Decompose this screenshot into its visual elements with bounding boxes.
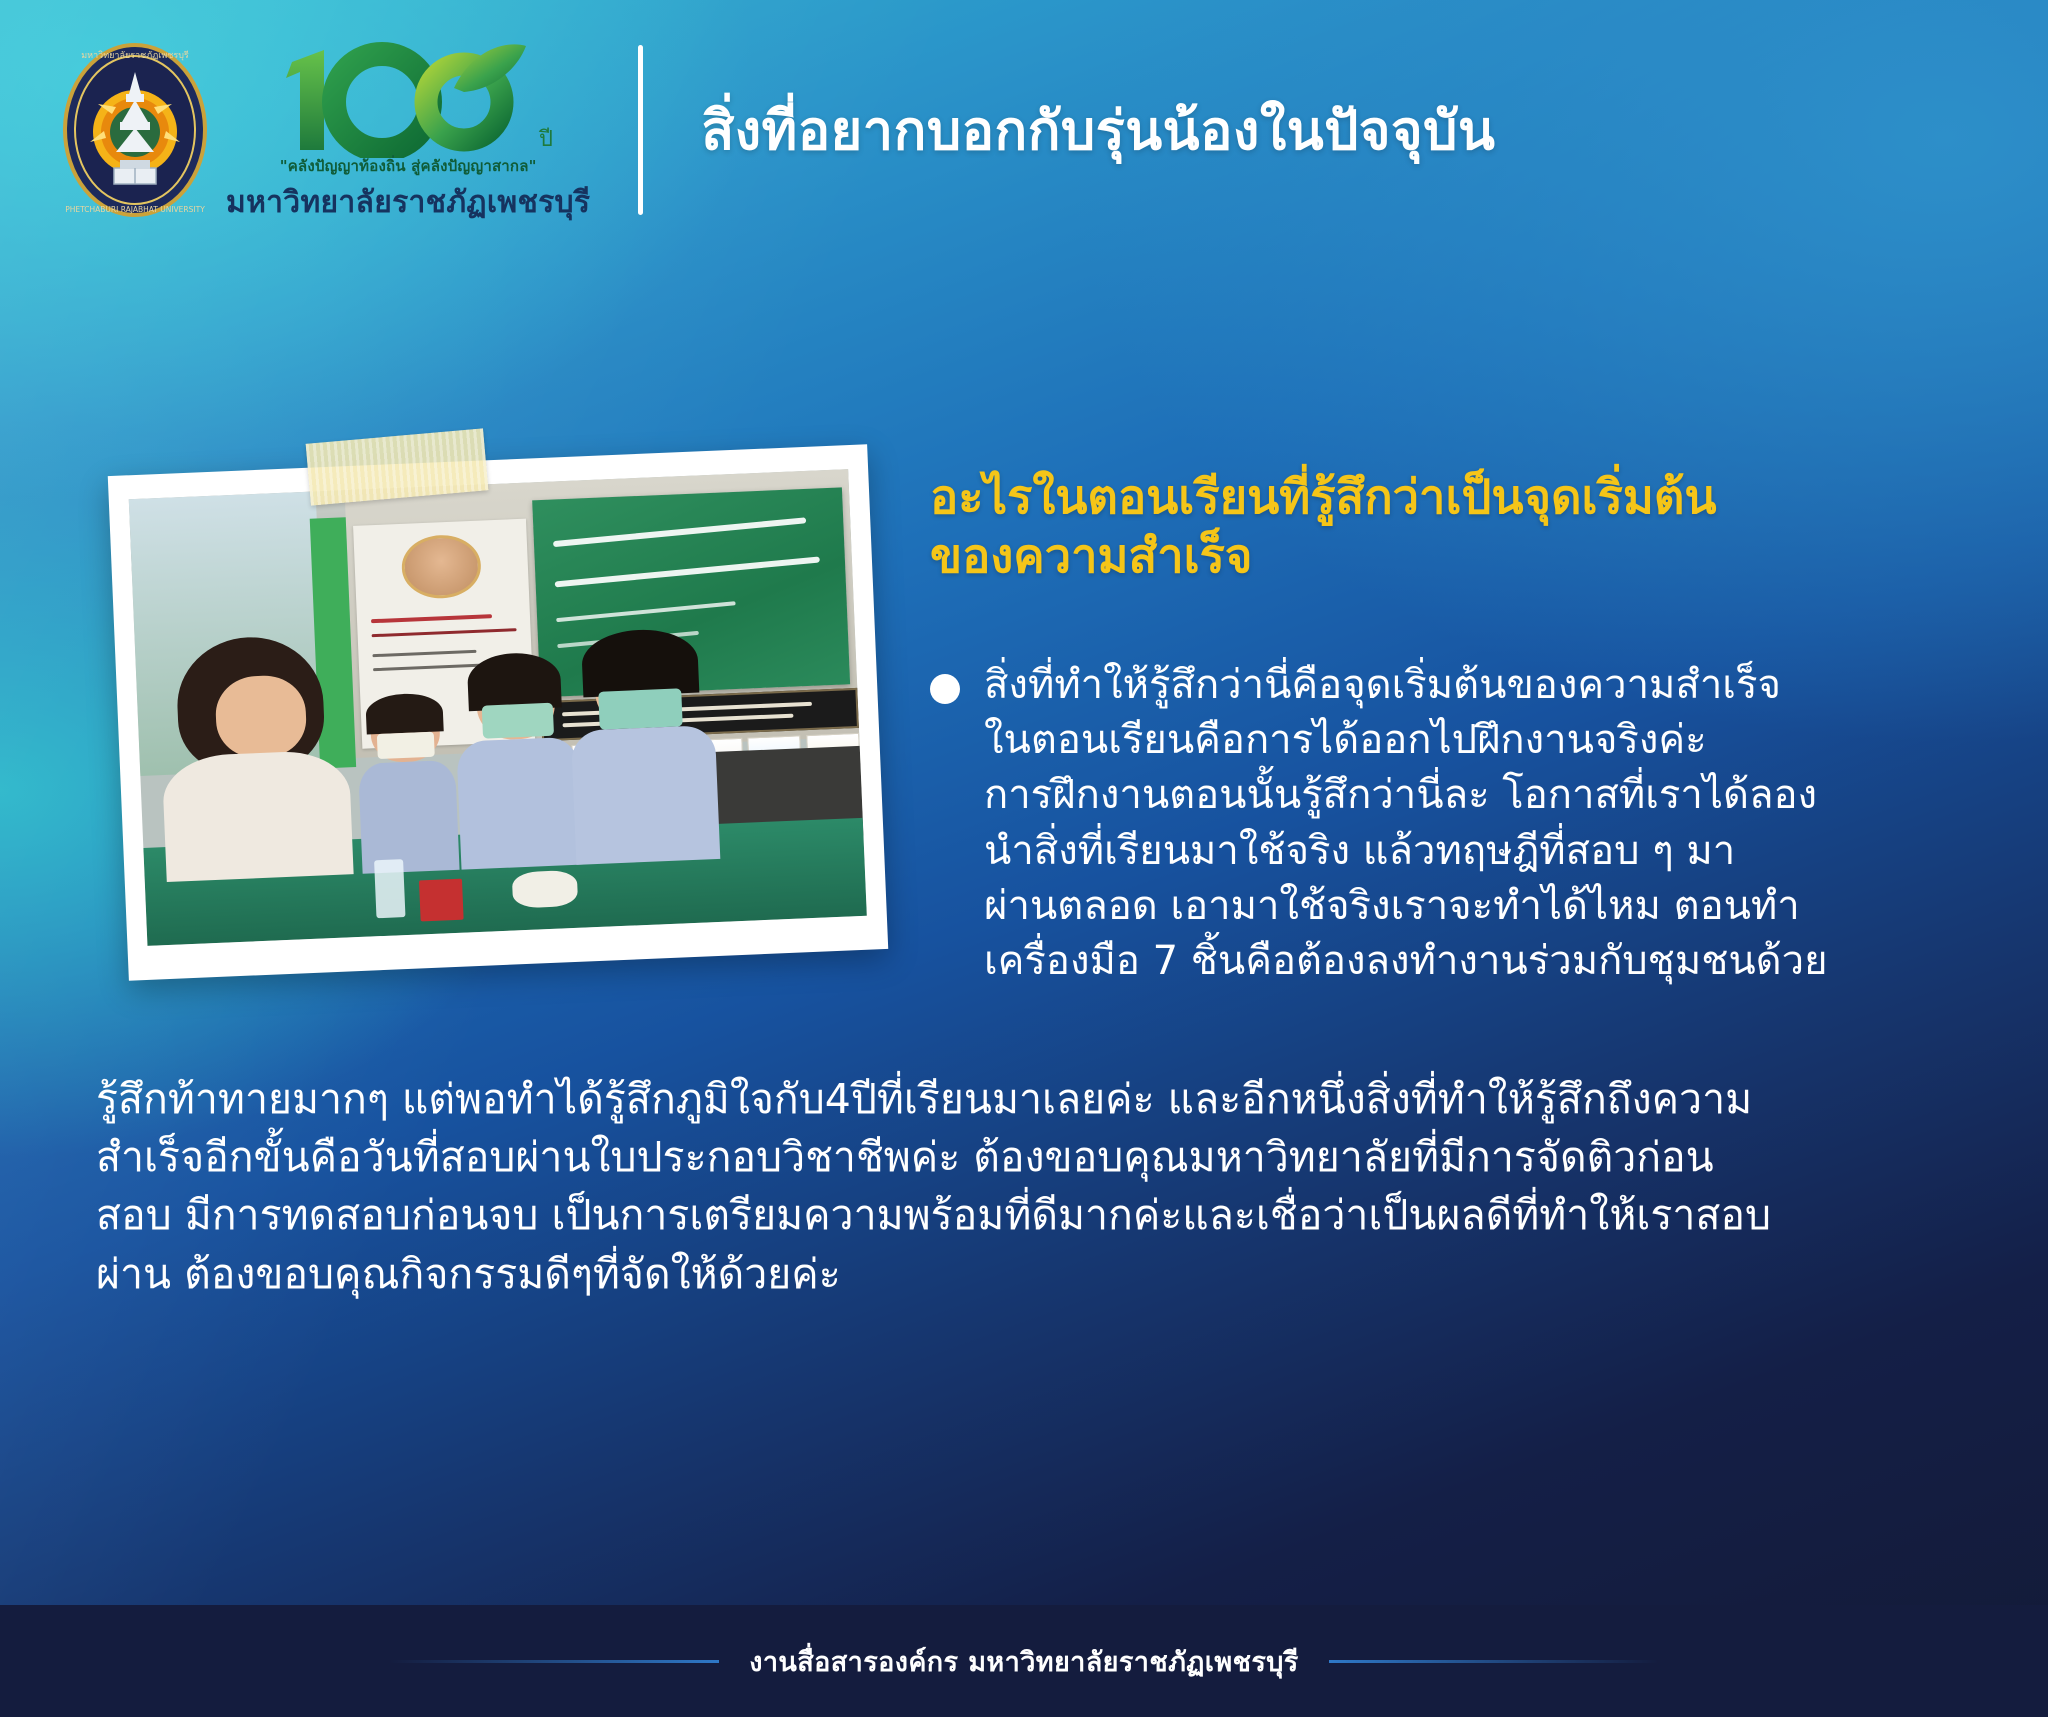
red-cup: [419, 879, 464, 921]
person-hair: [581, 628, 699, 698]
section-heading-line-1: อะไรในตอนเรียนที่รู้สึกว่าเป็นจุดเริ่มต้…: [930, 468, 1990, 527]
page-title: สิ่งที่อยากบอกกับรุ่นน้องในปัจจุบัน: [701, 87, 1495, 173]
bullet-line-2: ในตอนเรียนคือการได้ออกไปฝึกงานจริงค่ะ: [984, 713, 1828, 768]
anniversary-number-graphic: ปี: [258, 42, 558, 158]
person-hair: [467, 651, 562, 711]
banner-text-line: [553, 518, 806, 548]
bullet-dot-icon: [930, 674, 960, 704]
svg-text:ปี: ปี: [538, 127, 553, 152]
photo-card: [118, 460, 878, 965]
brand-lockup: มหาวิทยาลัยราชภัฏเพชรบุรี PHETCHABURI RA…: [0, 34, 590, 226]
anniversary-tagline: "คลังปัญญาท้องถิ่น สู่คลังปัญญาสากล": [280, 154, 537, 178]
section-heading-line-2: ของความสำเร็จ: [930, 527, 1990, 586]
svg-text:มหาวิทยาลัยราชภัฏเพชรบุรี: มหาวิทยาลัยราชภัฏเพชรบุรี: [81, 50, 189, 61]
banner-text-line: [554, 556, 820, 587]
person-body: [358, 759, 459, 874]
anniversary-logo: ปี "คลังปัญญาท้องถิ่น สู่คลังปัญญาสากล" …: [226, 42, 590, 226]
photo-person-student-1: [353, 691, 461, 874]
bullet-line-1: สิ่งที่ทำให้รู้สึกว่านี่คือจุดเริ่มต้นขอ…: [984, 658, 1828, 713]
university-seal-icon: มหาวิทยาลัยราชภัฏเพชรบุรี PHETCHABURI RA…: [62, 42, 208, 218]
banner-text-line: [556, 601, 735, 622]
bullet-text: สิ่งที่ทำให้รู้สึกว่านี่คือจุดเริ่มต้นขอ…: [984, 658, 1828, 989]
sanitizer-bottle: [374, 859, 405, 918]
poster-line: [371, 614, 492, 623]
paragraph-line-4: ผ่าน ต้องขอบคุณกิจกรรมดีๆที่จัดให้ด้วยค่…: [96, 1245, 1996, 1303]
bullet-line-6: เครื่องมือ 7 ชิ้นคือต้องลงทำงานร่วมกับชุ…: [984, 934, 1828, 989]
poster-line: [372, 628, 517, 637]
svg-text:PHETCHABURI RAJABHAT UNIVERSIT: PHETCHABURI RAJABHAT UNIVERSITY: [65, 205, 205, 214]
glove-hand: [512, 870, 578, 908]
footer-bar: งานสื่อสารองค์กร มหาวิทยาลัยราชภัฏเพชรบุ…: [0, 1605, 2048, 1717]
poster-canvas: มหาวิทยาลัยราชภัฏเพชรบุรี PHETCHABURI RA…: [0, 0, 2048, 1717]
person-body: [456, 736, 584, 870]
community-health-photo: [129, 469, 867, 946]
body-paragraph: รู้สึกท้าทายมากๆ แต่พอทำได้รู้สึกภูมิใจก…: [96, 1070, 1996, 1303]
photo-person-student-2: [452, 651, 583, 870]
paragraph-line-2: สำเร็จอีกขั้นคือวันที่สอบผ่านใบประกอบวิช…: [96, 1128, 1996, 1186]
photo-person-client: [156, 633, 353, 882]
footer-rule-right: [1329, 1660, 1659, 1663]
photo-frame: [108, 444, 888, 980]
bullet-item: สิ่งที่ทำให้รู้สึกว่านี่คือจุดเริ่มต้นขอ…: [930, 658, 2000, 989]
person-face: [214, 674, 307, 760]
footer-text: งานสื่อสารองค์กร มหาวิทยาลัยราชภัฏเพชรบุ…: [749, 1640, 1298, 1683]
bullet-line-5: ผ่านตลอด เอามาใช้จริงเราจะทำได้ไหม ตอนทำ: [984, 879, 1828, 934]
header-divider: [638, 45, 643, 215]
paragraph-line-1: รู้สึกท้าทายมากๆ แต่พอทำได้รู้สึกภูมิใจก…: [96, 1070, 1996, 1128]
face-mask-icon: [481, 703, 553, 738]
section-heading: อะไรในตอนเรียนที่รู้สึกว่าเป็นจุดเริ่มต้…: [930, 468, 1990, 586]
university-name: มหาวิทยาลัยราชภัฏเพชรบุรี: [226, 179, 590, 226]
bullet-line-3: การฝึกงานตอนนั้นรู้สึกว่านี่ละ โอกาสที่เ…: [984, 768, 1828, 823]
face-mask-icon: [598, 689, 683, 730]
footer-rule-left: [389, 1660, 719, 1663]
header-bar: มหาวิทยาลัยราชภัฏเพชรบุรี PHETCHABURI RA…: [0, 0, 2048, 260]
person-hair: [365, 692, 443, 735]
person-body: [571, 725, 721, 866]
photo-portrait-circle: [400, 534, 482, 600]
face-mask-icon: [377, 732, 434, 759]
photo-person-student-3: [567, 627, 721, 865]
paragraph-line-3: สอบ มีการทดสอบก่อนจบ เป็นการเตรียมความพร…: [96, 1186, 1996, 1244]
person-body: [161, 749, 353, 882]
bullet-line-4: นำสิ่งที่เรียนมาใช้จริง แล้วทฤษฎีที่สอบ …: [984, 824, 1828, 879]
